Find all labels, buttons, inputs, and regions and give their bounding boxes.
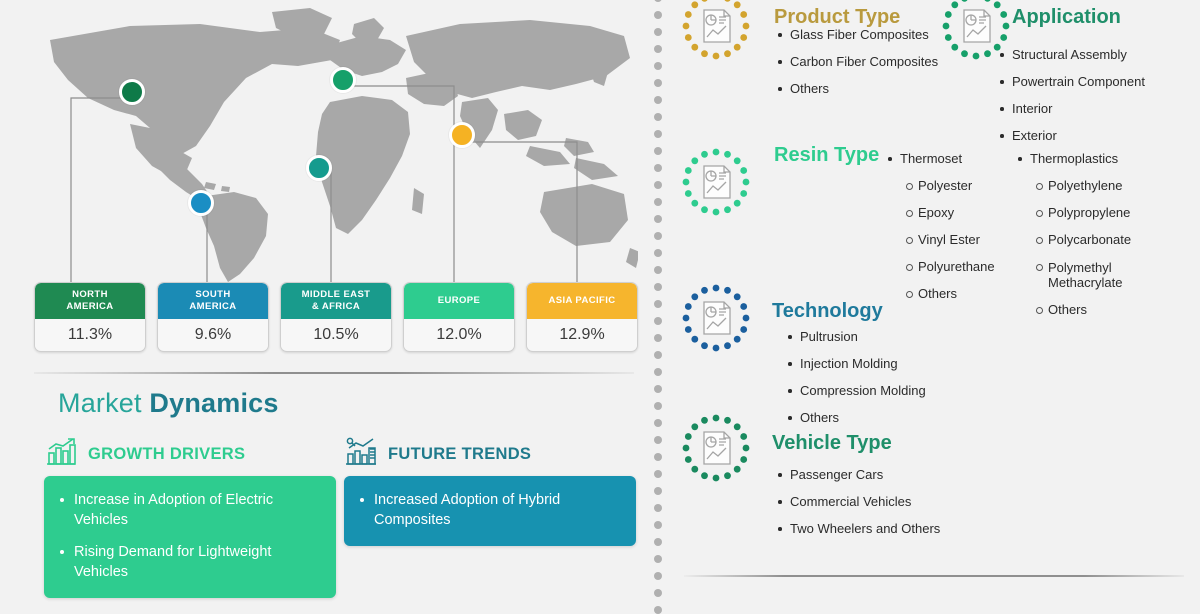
segment-item-list: ThermoplasticsPolyethylenePolypropyleneP… [1012,152,1158,330]
segment-item: Polypropylene [1012,206,1158,220]
future-trends-box: Increased Adoption of Hybrid Composites [344,476,636,546]
south-america-marker[interactable] [188,190,214,216]
segment-item: Glass Fiber Composites [772,28,938,42]
segment-item: Injection Molding [782,357,926,371]
segment-item-list: Structural AssemblyPowertrain ComponentI… [994,48,1145,156]
segment-item-list: PultrusionInjection MoldingCompression M… [782,330,926,438]
region-card-north-america[interactable]: NORTHAMERICA11.3% [34,282,146,352]
section-divider-right [684,575,1184,577]
segment-item: Interior [994,102,1145,116]
region-cagr-value: 12.9% [527,319,637,350]
divider-dot [654,113,662,121]
divider-dot [654,402,662,410]
divider-dot [654,249,662,257]
divider-dot [654,504,662,512]
region-name-line1: NORTH [72,289,108,301]
divider-dot [654,232,662,240]
right-panel: Product TypeGlass Fiber CompositesCarbon… [664,0,1200,600]
segment-title-technology: Technology [772,300,883,323]
segment-item-list: ThermosetPolyesterEpoxyVinyl EsterPolyur… [882,152,995,314]
divider-dot [654,572,662,580]
segment-item: Polyethylene [1012,179,1158,193]
divider-dot [654,538,662,546]
market-dynamics-title: Market Dynamics [58,388,279,419]
future-trends-column: FUTURE TRENDS Increased Adoption of Hybr… [344,436,636,546]
growth-drivers-box: Increase in Adoption of Electric Vehicle… [44,476,336,598]
divider-dot [654,11,662,19]
segment-item: Structural Assembly [994,48,1145,62]
dynamics-item: Increase in Adoption of Electric Vehicle… [72,490,324,530]
divider-dot [654,283,662,291]
region-card-asia-pacific[interactable]: ASIA PACIFIC12.9% [526,282,638,352]
future-trends-header: FUTURE TRENDS [344,436,636,472]
report-document-icon [680,282,752,354]
divider-dot [654,96,662,104]
segment-item: Powertrain Component [994,75,1145,89]
report-document-icon [680,0,752,62]
region-card-south-america[interactable]: SOUTHAMERICA9.6% [157,282,269,352]
segment-item: Compression Molding [782,384,926,398]
region-name-line1: EUROPE [438,295,481,307]
segment-item: Others [772,82,938,96]
segment-item: Others [1012,303,1158,317]
region-name-line2: AMERICA [189,301,236,313]
region-name-line1: SOUTH [195,289,230,301]
divider-dot [654,45,662,53]
middle-east-africa-marker[interactable] [306,155,332,181]
segment-item-list: Glass Fiber CompositesCarbon Fiber Compo… [772,28,938,109]
region-card-header: EUROPE [404,283,514,319]
region-cagr-value: 9.6% [158,319,268,350]
market-dynamics-title-word1: Market [58,388,142,418]
trend-chart-icon [344,437,378,472]
segment-item: Carbon Fiber Composites [772,55,938,69]
region-card-middle-east-africa[interactable]: MIDDLE EAST& AFRICA10.5% [280,282,392,352]
divider-dot [654,181,662,189]
section-divider-left [34,372,634,374]
segment-title-product-type: Product Type [774,6,900,29]
segment-item: Pultrusion [782,330,926,344]
segment-item: Polymethyl Methacrylate [1012,260,1158,290]
segment-item: Vinyl Ester [882,233,995,247]
region-cagr-value: 11.3% [35,319,145,350]
divider-dot [654,419,662,427]
vertical-dotted-divider [652,0,664,606]
segment-item: Polyester [882,179,995,193]
region-cards: NORTHAMERICA11.3%SOUTHAMERICA9.6%MIDDLE … [34,282,634,354]
growth-drivers-list: Increase in Adoption of Electric Vehicle… [50,490,324,582]
north-america-marker[interactable] [119,79,145,105]
segment-item: Passenger Cars [772,468,940,482]
region-name-line2: & AFRICA [312,301,360,313]
divider-dot [654,300,662,308]
report-document-icon [680,412,752,484]
segment-item-list: Passenger CarsCommercial VehiclesTwo Whe… [772,468,940,549]
divider-dot [654,79,662,87]
region-card-header: ASIA PACIFIC [527,283,637,319]
segment-item: Polyurethane [882,260,995,274]
future-trends-label: FUTURE TRENDS [388,445,531,464]
dynamics-item: Increased Adoption of Hybrid Composites [372,490,624,530]
segment-item: Thermoplastics [1012,152,1158,166]
divider-dot [654,385,662,393]
growth-drivers-label: GROWTH DRIVERS [88,445,245,464]
region-card-header: MIDDLE EAST& AFRICA [281,283,391,319]
segment-title-application: Application [1012,6,1121,29]
divider-dot [654,606,662,614]
divider-dot [654,317,662,325]
divider-dot [654,164,662,172]
region-cagr-value: 10.5% [281,319,391,350]
region-card-header: NORTHAMERICA [35,283,145,319]
divider-dot [654,521,662,529]
europe-marker[interactable] [330,67,356,93]
future-trends-list: Increased Adoption of Hybrid Composites [350,490,624,530]
report-document-icon [680,146,752,218]
asia-pacific-marker[interactable] [449,122,475,148]
divider-dot [654,334,662,342]
divider-dot [654,555,662,563]
region-name-line1: ASIA PACIFIC [548,295,615,307]
divider-dot [654,470,662,478]
divider-dot [654,351,662,359]
divider-dot [654,0,662,2]
divider-dot [654,368,662,376]
divider-dot [654,266,662,274]
divider-dot [654,130,662,138]
segment-item: Others [782,411,926,425]
region-card-header: SOUTHAMERICA [158,283,268,319]
segment-title-vehicle-type: Vehicle Type [772,432,892,455]
segment-item: Exterior [994,129,1145,143]
segment-item: Others [882,287,995,301]
growth-drivers-header: GROWTH DRIVERS [44,436,336,472]
segment-title-resin-type: Resin Type [774,144,879,167]
world-map [10,6,638,286]
divider-dot [654,589,662,597]
divider-dot [654,215,662,223]
dynamics-item: Rising Demand for Lightweight Vehicles [72,542,324,582]
divider-dot [654,453,662,461]
growth-drivers-column: GROWTH DRIVERS Increase in Adoption of E… [44,436,336,598]
region-name-line1: MIDDLE EAST [302,289,371,301]
divider-dot [654,62,662,70]
infographic-root: NORTHAMERICA11.3%SOUTHAMERICA9.6%MIDDLE … [0,0,1200,600]
segment-item: Commercial Vehicles [772,495,940,509]
segment-item: Polycarbonate [1012,233,1158,247]
divider-dot [654,28,662,36]
divider-dot [654,147,662,155]
divider-dot [654,436,662,444]
left-panel: NORTHAMERICA11.3%SOUTHAMERICA9.6%MIDDLE … [0,0,648,600]
growth-chart-icon [44,437,78,472]
region-card-europe[interactable]: EUROPE12.0% [403,282,515,352]
segment-item: Thermoset [882,152,995,166]
divider-dot [654,487,662,495]
market-dynamics-title-word2: Dynamics [149,388,278,418]
region-name-line2: AMERICA [66,301,113,313]
segment-item: Epoxy [882,206,995,220]
region-cagr-value: 12.0% [404,319,514,350]
segment-item: Two Wheelers and Others [772,522,940,536]
divider-dot [654,198,662,206]
